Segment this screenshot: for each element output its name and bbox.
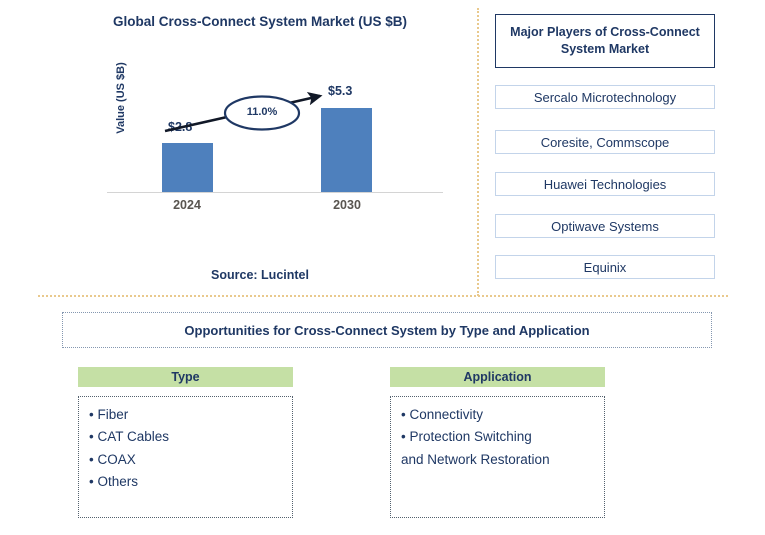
players-panel-header: Major Players of Cross-Connect System Ma… — [495, 14, 715, 68]
list-item: • COAX — [89, 449, 282, 471]
player-item-equinix[interactable]: Equinix — [495, 255, 715, 279]
type-list-box: • Fiber • CAT Cables • COAX • Others — [78, 396, 293, 518]
bar-chart: Value (US $B) $2.8 $5.3 2024 2030 11.0% — [95, 70, 455, 220]
player-item-huawei-technologies[interactable]: Huawei Technologies — [495, 172, 715, 196]
vertical-divider — [477, 8, 479, 296]
horizontal-divider — [38, 295, 728, 297]
list-item: • CAT Cables — [89, 426, 282, 448]
list-item: • Protection Switching and Network Resto… — [401, 426, 594, 471]
infographic-page: Global Cross-Connect System Market (US $… — [0, 0, 765, 535]
list-item: • Others — [89, 471, 282, 493]
player-item-sercalo-microtechnology[interactable]: Sercalo Microtechnology — [495, 85, 715, 109]
opportunities-banner: Opportunities for Cross-Connect System b… — [62, 312, 712, 348]
column-header-application: Application — [390, 367, 605, 387]
application-list-box: • Connectivity • Protection Switching an… — [390, 396, 605, 518]
player-item-coresite-commscope[interactable]: Coresite, Commscope — [495, 130, 715, 154]
list-item: • Connectivity — [401, 404, 594, 426]
source-note: Source: Lucintel — [60, 268, 460, 282]
column-header-type: Type — [78, 367, 293, 387]
list-item: • Fiber — [89, 404, 282, 426]
cagr-value-label: 11.0% — [231, 106, 293, 118]
player-item-optiwave-systems[interactable]: Optiwave Systems — [495, 214, 715, 238]
chart-title: Global Cross-Connect System Market (US $… — [60, 14, 460, 29]
cagr-annotation — [95, 70, 455, 220]
